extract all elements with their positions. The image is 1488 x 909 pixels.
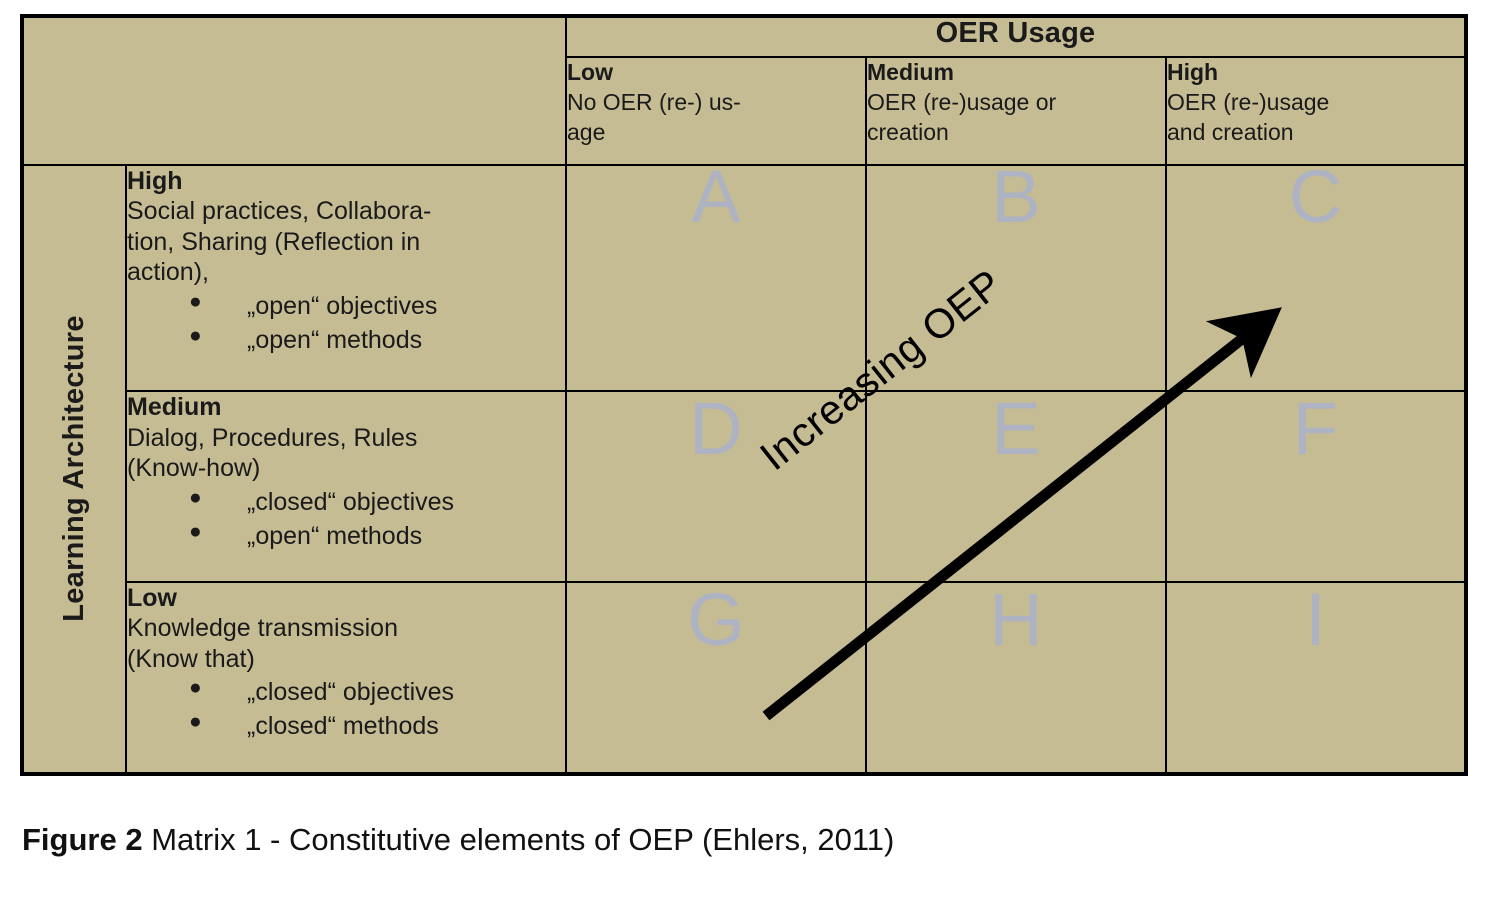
bullet-text: „open“ objectives — [247, 292, 437, 320]
column-header-medium: Medium OER (re-)usage or creation — [866, 57, 1166, 165]
row-level-high: High — [127, 166, 565, 197]
column-header-high-description: OER (re-)usage and creation — [1167, 88, 1464, 148]
row-description-medium: Medium Dialog, Procedures, Rules (Know-h… — [126, 391, 566, 582]
row-bullets-low: ●„closed“ objectives ●„closed“ methods — [127, 675, 565, 743]
row-body-high: Social practices, Collabora- tion, Shari… — [127, 196, 565, 288]
matrix-cell-c: C — [1166, 165, 1466, 392]
row-bullets-medium: ●„closed“ objectives ●„open“ methods — [127, 485, 565, 553]
row-axis-title: Learning Architecture — [58, 315, 91, 622]
list-item: ●„closed“ methods — [189, 709, 565, 743]
matrix-cell-letter: H — [867, 583, 1165, 657]
matrix-cell-a: A — [566, 165, 866, 392]
list-item: ●„closed“ objectives — [189, 485, 565, 519]
bullet-icon: ● — [189, 484, 202, 513]
bullet-icon: ● — [189, 322, 202, 351]
figure-number: Figure 2 — [22, 822, 143, 857]
matrix-cell-g: G — [566, 582, 866, 774]
column-header-low-description: No OER (re-) us- age — [567, 88, 865, 148]
bullet-icon: ● — [189, 288, 202, 317]
matrix-cell-letter: F — [1167, 392, 1464, 466]
figure-caption-text: Matrix 1 - Constitutive elements of OEP … — [143, 822, 895, 857]
matrix-cell-letter: A — [567, 160, 865, 234]
list-item: ●„closed“ objectives — [189, 675, 565, 709]
matrix-cell-letter: C — [1167, 160, 1464, 234]
row-body-medium: Dialog, Procedures, Rules (Know-how) — [127, 423, 565, 484]
figure-caption: Figure 2 Matrix 1 - Constitutive element… — [22, 822, 894, 858]
table-header-row-title: OER Usage — [22, 16, 1466, 57]
bullet-text: „closed“ objectives — [247, 488, 454, 516]
row-axis-title-inner: Learning Architecture — [24, 166, 125, 772]
bullet-text: „open“ methods — [247, 326, 422, 354]
matrix-table-wrapper: OER Usage Low No OER (re-) us- age Mediu… — [20, 14, 1446, 776]
matrix-cell-letter: G — [567, 583, 865, 657]
row-description-high: High Social practices, Collabora- tion, … — [126, 165, 566, 392]
bullet-text: „open“ methods — [247, 522, 422, 550]
bullet-icon: ● — [189, 708, 202, 737]
column-header-low-level: Low — [567, 58, 865, 88]
list-item: ●„open“ methods — [189, 519, 565, 553]
matrix-cell-letter: E — [867, 392, 1165, 466]
matrix-cell-letter: B — [867, 160, 1165, 234]
bullet-icon: ● — [189, 518, 202, 547]
column-header-low: Low No OER (re-) us- age — [566, 57, 866, 165]
row-level-medium: Medium — [127, 392, 565, 423]
column-header-medium-level: Medium — [867, 58, 1165, 88]
matrix-cell-b: B — [866, 165, 1166, 392]
list-item: ●„open“ methods — [189, 323, 565, 357]
column-header-medium-description: OER (re-)usage or creation — [867, 88, 1165, 148]
row-body-low: Knowledge transmission (Know that) — [127, 613, 565, 674]
matrix-cell-letter: D — [567, 392, 865, 466]
table-row-low: Low Knowledge transmission (Know that) ●… — [22, 582, 1466, 774]
matrix-cell-i: I — [1166, 582, 1466, 774]
bullet-icon: ● — [189, 674, 202, 703]
column-axis-title: OER Usage — [566, 16, 1466, 57]
row-description-low: Low Knowledge transmission (Know that) ●… — [126, 582, 566, 774]
table-row-high: Learning Architecture High Social practi… — [22, 165, 1466, 392]
bullet-text: „closed“ methods — [247, 712, 439, 740]
column-header-high-level: High — [1167, 58, 1464, 88]
oep-matrix-table: OER Usage Low No OER (re-) us- age Mediu… — [20, 14, 1468, 776]
table-row-medium: Medium Dialog, Procedures, Rules (Know-h… — [22, 391, 1466, 582]
matrix-cell-h: H — [866, 582, 1166, 774]
matrix-cell-letter: I — [1167, 583, 1464, 657]
column-header-high: High OER (re-)usage and creation — [1166, 57, 1466, 165]
list-item: ●„open“ objectives — [189, 289, 565, 323]
row-axis-title-cell: Learning Architecture — [22, 165, 126, 774]
figure-container: OER Usage Low No OER (re-) us- age Mediu… — [0, 0, 1488, 904]
row-level-low: Low — [127, 583, 565, 614]
row-bullets-high: ●„open“ objectives ●„open“ methods — [127, 289, 565, 357]
matrix-cell-e: E — [866, 391, 1166, 582]
bullet-text: „closed“ objectives — [247, 678, 454, 706]
matrix-cell-d: D — [566, 391, 866, 582]
corner-blank-cell — [22, 16, 566, 165]
matrix-cell-f: F — [1166, 391, 1466, 582]
